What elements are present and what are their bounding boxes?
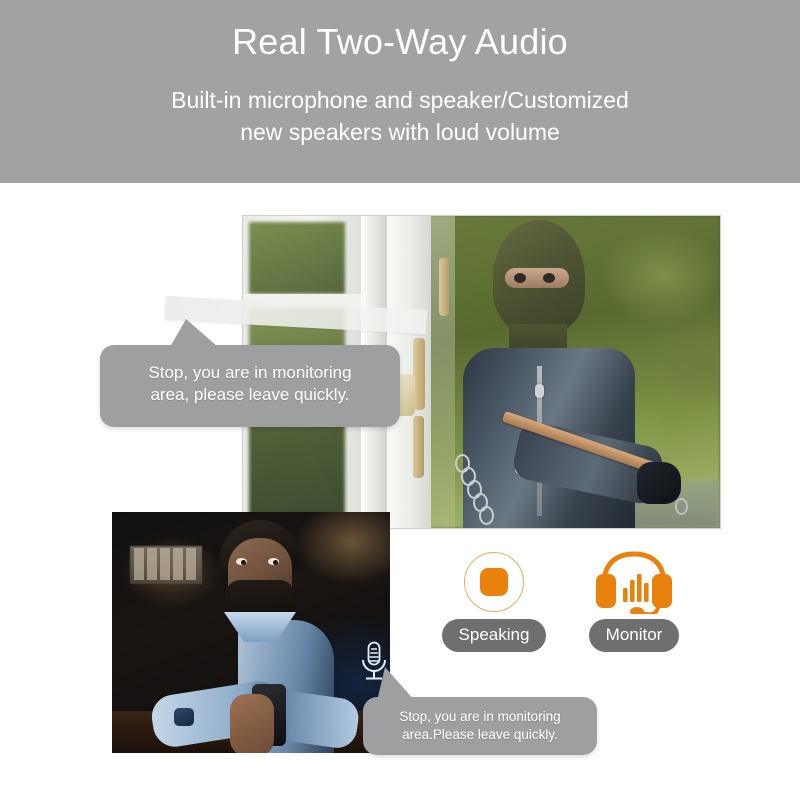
intruder-figure [419, 216, 679, 528]
intruder-eye-right [543, 273, 555, 283]
man-pupil-right [273, 560, 278, 565]
zipper-pull [535, 384, 544, 398]
monitor-control[interactable]: Monitor [578, 550, 690, 652]
camera-speech-text: Stop, you are in monitoring area, please… [100, 362, 400, 407]
speech-line-2: area, please leave quickly. [114, 384, 386, 406]
man-with-phone-photo [112, 512, 390, 753]
wristwatch [174, 708, 194, 726]
subtitle-line-2: new speakers with loud volume [60, 116, 740, 148]
man-hand [230, 694, 274, 753]
chain-link [675, 498, 688, 515]
subtitle-line-1: Built-in microphone and speaker/Customiz… [60, 84, 740, 116]
headset-icon[interactable] [578, 550, 690, 614]
speaking-label[interactable]: Speaking [442, 619, 547, 652]
speech-bubble-tail [377, 667, 415, 701]
speech-line-1: Stop, you are in monitoring [114, 362, 386, 384]
chain-link [479, 506, 494, 525]
shelf-binder [134, 548, 144, 580]
record-ring [464, 552, 524, 612]
header-banner: Real Two-Way Audio Built-in microphone a… [0, 0, 800, 183]
man-pupil-left [241, 560, 246, 565]
intruder-eye-left [514, 273, 526, 283]
page-title: Real Two-Way Audio [0, 20, 800, 64]
speech-line-2: area.Please leave quickly. [375, 726, 585, 744]
camera-speech-bubble: Stop, you are in monitoring area, please… [100, 345, 400, 427]
shelf-binder [173, 548, 183, 580]
record-square [480, 568, 508, 596]
speech-bubble-tail [170, 319, 218, 347]
speaking-control[interactable]: Speaking [438, 550, 550, 652]
phone-speech-text: Stop, you are in monitoring area.Please … [363, 708, 597, 744]
jacket-chain [453, 454, 493, 524]
speech-line-1: Stop, you are in monitoring [375, 708, 585, 726]
shelf-binder [186, 548, 196, 580]
shelf-binder [160, 548, 170, 580]
page-subtitle: Built-in microphone and speaker/Customiz… [60, 84, 740, 148]
balaclava-eye-slit [505, 268, 569, 288]
phone-speech-bubble: Stop, you are in monitoring area.Please … [363, 697, 597, 755]
monitor-label[interactable]: Monitor [589, 619, 680, 652]
door-glass-upper [249, 222, 345, 294]
intruder-glove [637, 462, 681, 504]
shelf-binder [147, 548, 157, 580]
record-button-icon[interactable] [438, 550, 550, 614]
